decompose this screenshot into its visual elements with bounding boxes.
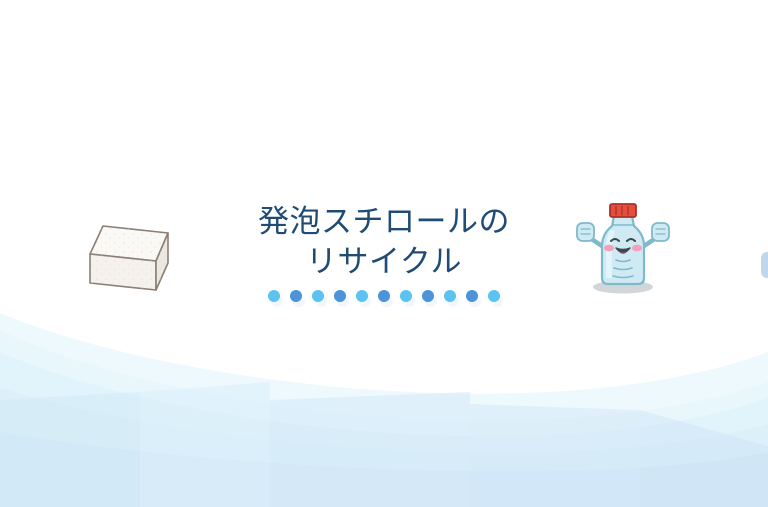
divider-dot (488, 290, 501, 307)
divider-dot (422, 290, 435, 307)
wave-facet-left (0, 392, 140, 507)
bottle-left-fist (577, 223, 594, 241)
wave-band-5 (0, 432, 768, 507)
wave-facet-midleft (140, 382, 270, 507)
divider-dot-fill (290, 290, 302, 302)
bottle-cheek-left (604, 245, 614, 252)
divider-dot (444, 290, 457, 307)
divider-dot-fill (312, 290, 324, 302)
wave-band-4 (0, 388, 768, 507)
wave-band-2 (0, 330, 768, 507)
divider-dot-fill (356, 290, 368, 302)
divider-dot-fill (268, 290, 280, 302)
divider-dot (466, 290, 479, 307)
divider-dot (268, 290, 281, 307)
wave-band-1 (0, 313, 768, 507)
divider-dot (378, 290, 391, 307)
divider-dot-fill (422, 290, 434, 302)
divider-dot-fill (334, 290, 346, 302)
bottle-right-fist (652, 223, 669, 241)
divider-dot (312, 290, 325, 307)
divider-dot-fill (400, 290, 412, 302)
wave-facet-center (270, 392, 470, 507)
divider-dot-fill (444, 290, 456, 302)
bottle-cap (610, 204, 636, 217)
divider-dot-fill (378, 290, 390, 302)
wave-facet-faredge (640, 410, 768, 507)
slide-canvas: 発泡スチロールの リサイクル (0, 0, 768, 507)
pet-bottle-mascot (564, 196, 682, 298)
divider-dot (334, 290, 347, 307)
wave-facet-right (470, 404, 640, 507)
right-edge-sliver (761, 252, 768, 278)
divider-dot-fill (488, 290, 500, 302)
divider-dot (290, 290, 303, 307)
divider-dot (356, 290, 369, 307)
divider-dot (400, 290, 413, 307)
divider-dot-fill (466, 290, 478, 302)
bottle-cheek-right (632, 245, 642, 252)
wave-band-3 (0, 352, 768, 507)
